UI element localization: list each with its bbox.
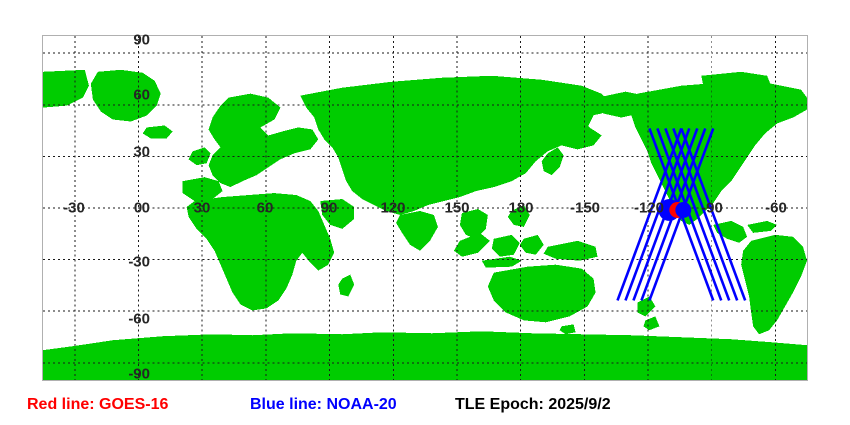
land-madagascar	[338, 275, 354, 297]
lat-label-60: 60	[133, 88, 150, 103]
land-europe	[209, 94, 319, 187]
land-india	[396, 211, 438, 251]
land-java	[482, 257, 522, 268]
land-tasmania	[560, 324, 576, 334]
land-antarctica	[43, 331, 807, 380]
lon-label-120: 120	[380, 201, 405, 216]
legend-footer: Red line: GOES-16 Blue line: NOAA-20 TLE…	[0, 392, 850, 425]
lon-label-150: 150	[444, 201, 469, 216]
lon-label-neg150: -150	[570, 201, 600, 216]
lon-label-neg90: -90	[701, 201, 723, 216]
land-new-guinea	[544, 241, 598, 261]
land-borneo	[492, 235, 520, 257]
legend-noaa20: Blue line: NOAA-20	[250, 397, 397, 413]
lat-label-30: 30	[133, 145, 150, 160]
land-asia	[300, 76, 611, 215]
lon-label-neg120: -120	[634, 201, 664, 216]
legend-tle-epoch: TLE Epoch: 2025/9/2	[455, 397, 611, 413]
land-caribbean	[747, 221, 777, 233]
lon-label-60: 60	[257, 201, 274, 216]
lat-label-0: 0	[142, 201, 150, 216]
lat-label-neg60: -60	[128, 312, 150, 327]
lon-label-30: 30	[194, 201, 211, 216]
land-south-america	[741, 235, 807, 334]
lat-label-90: 90	[133, 33, 150, 48]
land-sumatra	[454, 233, 490, 257]
noaa20-overlap-marker	[675, 202, 691, 218]
land-sulawesi	[520, 235, 544, 255]
lat-label-neg30: -30	[128, 255, 150, 270]
lat-label-neg90: -90	[128, 367, 150, 382]
lon-label-180: 180	[508, 201, 533, 216]
legend-goes16: Red line: GOES-16	[27, 397, 168, 413]
land-arctic-islands-west	[43, 70, 89, 108]
lon-label-neg30: -30	[63, 201, 85, 216]
land-iceland	[143, 125, 173, 138]
lon-label-neg60: -60	[765, 201, 787, 216]
lon-label-90: 90	[321, 201, 338, 216]
map-canvas	[43, 36, 807, 380]
land-australia	[488, 265, 596, 323]
land-british-isles	[189, 147, 211, 165]
world-map-panel	[42, 35, 808, 381]
land-greenland	[91, 70, 161, 122]
